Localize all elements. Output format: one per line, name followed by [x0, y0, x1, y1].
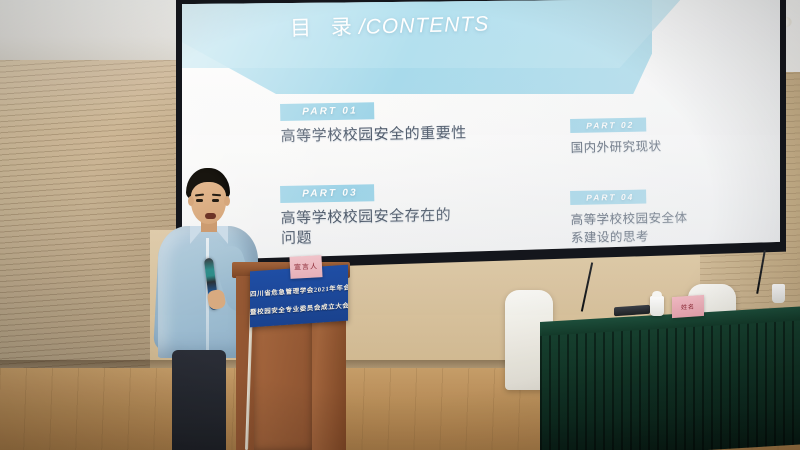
slide-part-01: PART 01 高等学校校园安全的重要性	[280, 98, 467, 147]
presentation-photo: 目 录/CONTENTS PART 01 高等学校校园安全的重要性 PART 0…	[0, 0, 800, 450]
speaker-name-placard: 宣言人	[289, 255, 322, 279]
slide-part-02: PART 02 国内外研究现状	[570, 114, 662, 157]
table-name-card: 姓名	[672, 295, 704, 318]
speaker-eye-right	[212, 199, 219, 202]
speaker-ear-right	[224, 196, 230, 206]
head-table-skirt	[540, 320, 800, 450]
speaker-name-placard-text: 宣言人	[294, 261, 318, 272]
slide-part-04-text: 高等学校校园安全体系建设的思考	[570, 210, 691, 247]
slide-part-03-text: 高等学校校园安全存在的问题	[280, 206, 461, 250]
slide-part-02-text: 国内外研究现状	[570, 138, 661, 157]
table-name-card-text: 姓名	[672, 301, 704, 312]
speaker-ear-left	[188, 196, 194, 206]
slide-part-02-tag: PART 02	[570, 118, 646, 133]
podium-center-inlay	[254, 314, 312, 450]
slide-part-01-tag: PART 01	[280, 102, 374, 121]
speaker-trousers	[172, 350, 226, 450]
slide-part-04-tag: PART 04	[570, 190, 646, 205]
speaker-eye-left	[196, 199, 203, 202]
teacup-second	[772, 284, 785, 303]
speaker-mouth	[205, 213, 216, 219]
slide-part-03: PART 03 高等学校校园安全存在的问题	[280, 181, 461, 250]
slide-part-01-text: 高等学校校园安全的重要性	[280, 123, 466, 147]
podium: 四川省危急管理学会2021年年会 暨校园安全专业委员会成立大会 宣言人	[232, 262, 350, 450]
podium-banner-line-2: 暨校园安全专业委员会成立大会	[250, 300, 348, 317]
podium-banner-line-1: 四川省危急管理学会2021年年会	[250, 282, 348, 299]
head-table	[540, 306, 800, 450]
slide-part-03-tag: PART 03	[280, 184, 374, 203]
slide-part-04: PART 04 高等学校校园安全体系建设的思考	[570, 186, 691, 247]
teacup	[650, 296, 664, 316]
